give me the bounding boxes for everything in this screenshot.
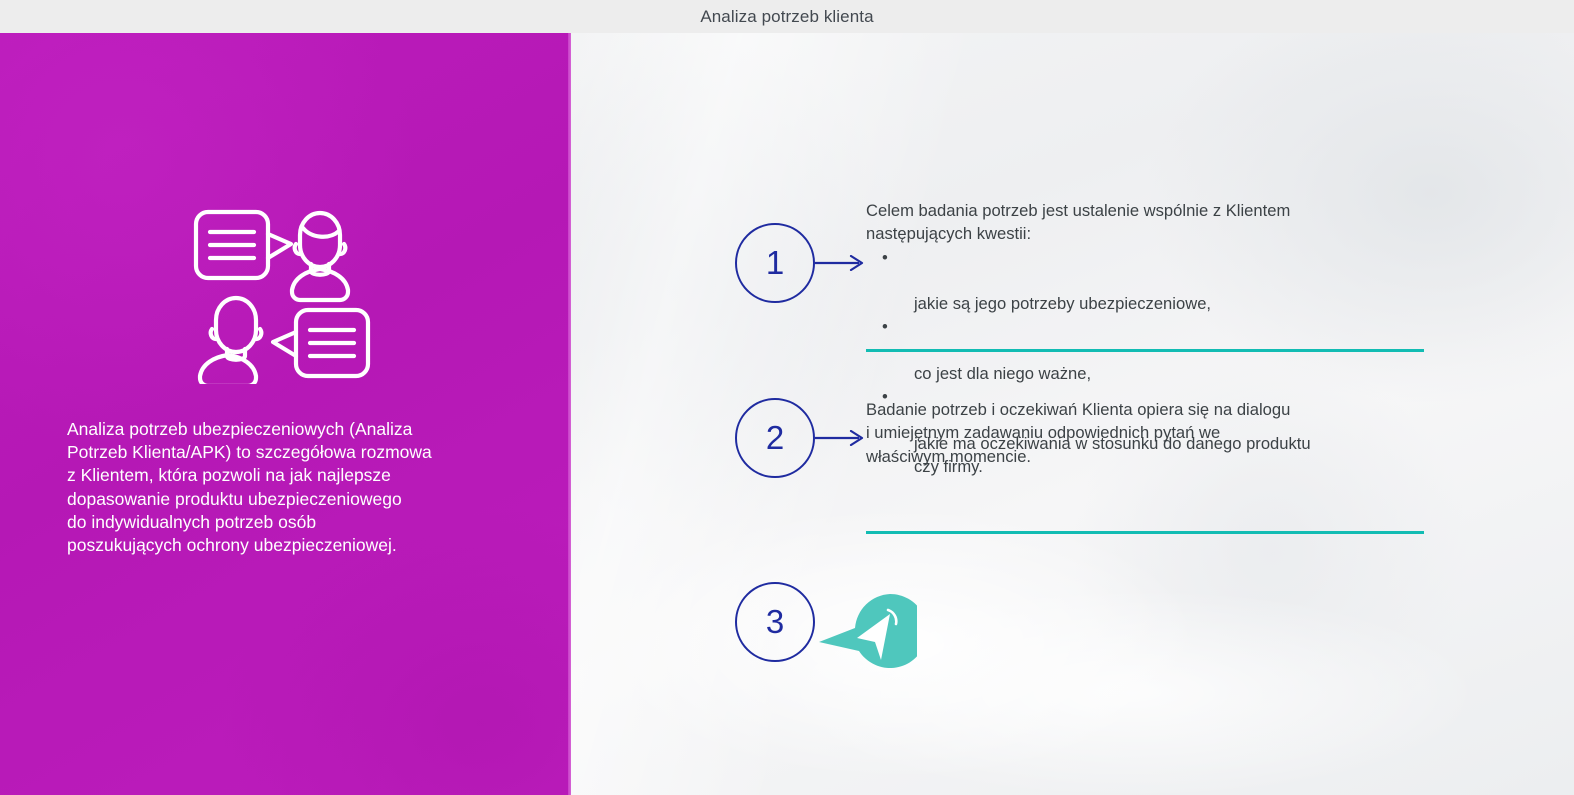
window-titlebar: Analiza potrzeb klienta xyxy=(0,0,1574,33)
left-magenta-panel: Analiza potrzeb ubezpieczeniowych (Anali… xyxy=(0,33,571,795)
list-item-label: co jest dla niego ważne, xyxy=(914,364,1091,383)
step-2-intro: Badanie potrzeb i oczekiwań Klienta opie… xyxy=(866,398,1436,468)
step-1-intro: Celem badania potrzeb jest ustalenie wsp… xyxy=(866,199,1436,246)
left-panel-paragraph: Analiza potrzeb ubezpieczeniowych (Anali… xyxy=(67,418,527,557)
step-3-number: 3 xyxy=(766,605,784,638)
step-1-number: 1 xyxy=(766,246,784,279)
list-item: • jakie są jego potrzeby ubezpieczeniowe… xyxy=(866,246,1436,316)
slide-root: Analiza potrzeb klienta xyxy=(0,0,1574,795)
divider-after-step-1 xyxy=(866,349,1424,352)
bullet-icon: • xyxy=(882,315,888,338)
divider-after-step-2 xyxy=(866,531,1424,534)
step-2-body: Badanie potrzeb i oczekiwań Klienta opie… xyxy=(866,398,1436,468)
list-item-label: jakie są jego potrzeby ubezpieczeniowe, xyxy=(914,294,1211,313)
arrow-right-icon xyxy=(815,255,865,271)
teal-speech-bubble-cursor-icon[interactable] xyxy=(817,586,917,676)
step-2-circle[interactable]: 2 xyxy=(735,398,815,478)
slide-stage: Analiza potrzeb ubezpieczeniowych (Anali… xyxy=(0,33,1574,795)
panel-edge-highlight xyxy=(568,33,571,795)
step-2-number: 2 xyxy=(766,421,784,454)
page-title: Analiza potrzeb klienta xyxy=(700,7,873,27)
arrow-right-icon xyxy=(815,430,865,446)
step-1-circle[interactable]: 1 xyxy=(735,223,815,303)
step-3-circle[interactable]: 3 xyxy=(735,582,815,662)
conversation-people-icon xyxy=(192,206,372,384)
bullet-icon: • xyxy=(882,246,888,269)
